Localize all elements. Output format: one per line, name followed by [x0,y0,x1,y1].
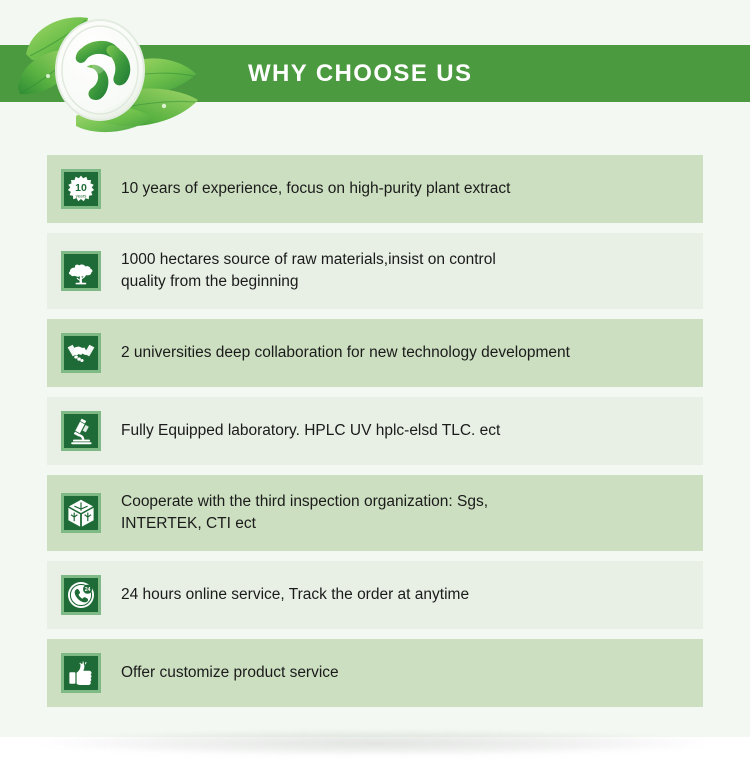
feature-list: 10 years 10 years of experience, focus o… [47,155,703,717]
feature-text: Offer customize product service [121,662,703,684]
feature-row[interactable]: Offer customize product service [47,639,703,707]
24-hour-clock-phone-icon: 24 [61,575,101,615]
feature-text: 24 hours online service, Track the order… [121,584,703,606]
svg-text:10: 10 [75,182,87,194]
feature-row[interactable]: 2 universities deep collaboration for ne… [47,319,703,387]
feature-row[interactable]: Fully Equipped laboratory. HPLC UV hplc-… [47,397,703,465]
tree-icon [61,251,101,291]
why-choose-us-banner: WHY CHOOSE US [0,0,750,766]
feature-row[interactable]: 24 24 hours online service, Track the or… [47,561,703,629]
svg-text:years: years [76,194,88,199]
feature-text: 2 universities deep collaboration for ne… [121,342,703,364]
feature-row[interactable]: 1000 hectares source of raw materials,in… [47,233,703,309]
feature-text: 1000 hectares source of raw materials,in… [121,249,703,293]
page-title: WHY CHOOSE US [248,45,472,102]
panel-drop-shadow [38,730,712,756]
feature-row[interactable]: 10 years 10 years of experience, focus o… [47,155,703,223]
feature-text: Fully Equipped laboratory. HPLC UV hplc-… [121,420,703,442]
feature-text: Cooperate with the third inspection orga… [121,491,703,535]
feature-text: 10 years of experience, focus on high-pu… [121,178,703,200]
ten-years-badge-icon: 10 years [61,169,101,209]
microscope-icon [61,411,101,451]
certification-cube-icon [61,493,101,533]
feature-row[interactable]: Cooperate with the third inspection orga… [47,475,703,551]
svg-text:24: 24 [85,587,91,593]
handshake-icon [61,333,101,373]
leaf-circle-logo [12,8,227,138]
thumbs-up-icon [61,653,101,693]
